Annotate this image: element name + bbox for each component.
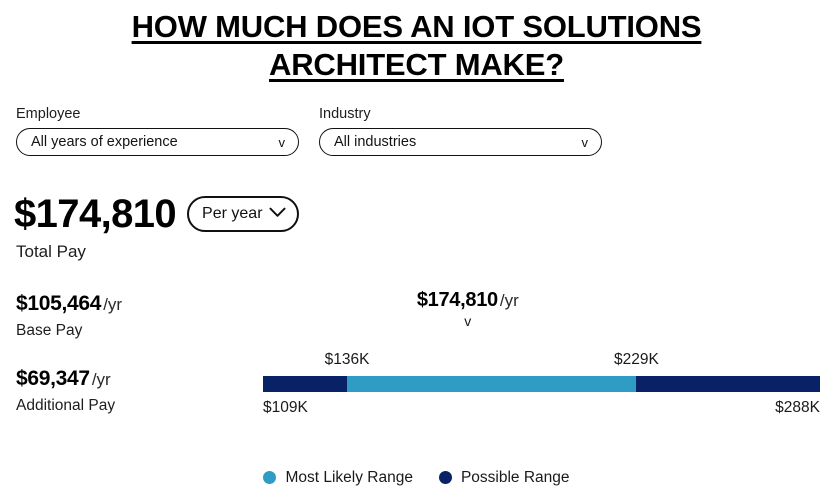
range-marker-pointer-icon: v — [464, 313, 471, 329]
chevron-down-icon: v — [582, 136, 589, 149]
range-tick-likely-min: $136K — [325, 350, 370, 369]
legend-color-dot-icon — [439, 471, 452, 484]
legend-label-most-likely: Most Likely Range — [285, 468, 413, 487]
total-pay-amount: $174,810 — [14, 192, 176, 236]
range-bar[interactable] — [263, 376, 820, 392]
filter-label-industry: Industry — [319, 106, 602, 123]
chart-legend: Most Likely Range Possible Range — [0, 468, 833, 487]
legend-color-dot-icon — [263, 471, 276, 484]
chevron-down-icon — [269, 205, 286, 223]
range-marker-amount: $174,810 — [417, 289, 498, 311]
pay-period-value: Per year — [202, 205, 262, 223]
range-tick-min: $109K — [263, 398, 308, 417]
pay-breakdown-item-additional: $69,347/yr Additional Pay — [16, 367, 246, 415]
range-marker-unit: /yr — [500, 291, 519, 310]
total-pay-row: $174,810 Per year — [14, 192, 299, 236]
total-pay-label: Total Pay — [16, 242, 86, 262]
range-bar-segment-0 — [263, 376, 347, 392]
employee-experience-dropdown[interactable]: All years of experience v — [16, 128, 299, 156]
page-title: HOW MUCH DOES AN IOT SOLUTIONS ARCHITECT… — [0, 8, 833, 84]
legend-item-possible: Possible Range — [439, 468, 570, 487]
filter-label-employee: Employee — [16, 106, 299, 123]
page-title-line-1: HOW MUCH DOES AN IOT SOLUTIONS — [132, 8, 702, 46]
pay-period-dropdown[interactable]: Per year — [187, 196, 298, 232]
filter-group-employee: Employee All years of experience v — [16, 106, 299, 156]
pay-breakdown-item-base: $105,464/yr Base Pay — [16, 292, 246, 340]
employee-experience-value: All years of experience — [31, 134, 178, 150]
range-bar-segment-2 — [636, 376, 820, 392]
industry-dropdown[interactable]: All industries v — [319, 128, 602, 156]
range-bar-segment-1 — [347, 376, 636, 392]
page-title-line-2: ARCHITECT MAKE? — [269, 46, 564, 84]
legend-label-possible: Possible Range — [461, 468, 570, 487]
pay-breakdown-list: $105,464/yr Base Pay $69,347/yr Addition… — [16, 292, 246, 442]
industry-value: All industries — [334, 134, 416, 150]
range-tick-max: $288K — [775, 398, 820, 417]
base-pay-unit: /yr — [103, 295, 122, 314]
range-marker-label: $174,810/yr — [417, 288, 519, 314]
filter-group-industry: Industry All industries v — [319, 106, 602, 156]
additional-pay-unit: /yr — [92, 370, 111, 389]
filter-bar: Employee All years of experience v Indus… — [16, 106, 602, 156]
range-tick-likely-max: $229K — [614, 350, 659, 369]
additional-pay-label: Additional Pay — [16, 396, 246, 415]
additional-pay-amount: $69,347 — [16, 367, 90, 390]
base-pay-amount: $105,464 — [16, 292, 101, 315]
base-pay-label: Base Pay — [16, 321, 246, 340]
chevron-down-icon: v — [279, 136, 286, 149]
legend-item-most-likely: Most Likely Range — [263, 468, 413, 487]
